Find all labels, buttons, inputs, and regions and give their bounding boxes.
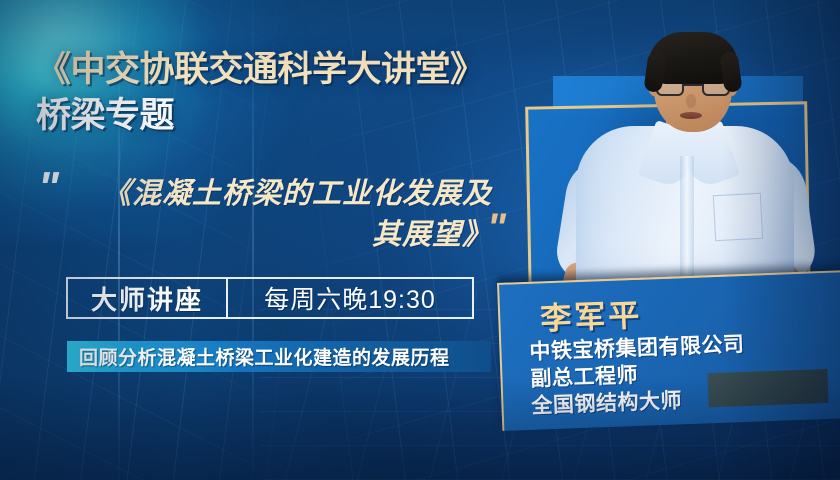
vignette-overlay (0, 0, 840, 480)
poster-stage: 《中交协联交通科学大讲堂》 桥梁专题 " 《混凝土桥梁的工业化发展及其展望》 "… (0, 0, 840, 480)
